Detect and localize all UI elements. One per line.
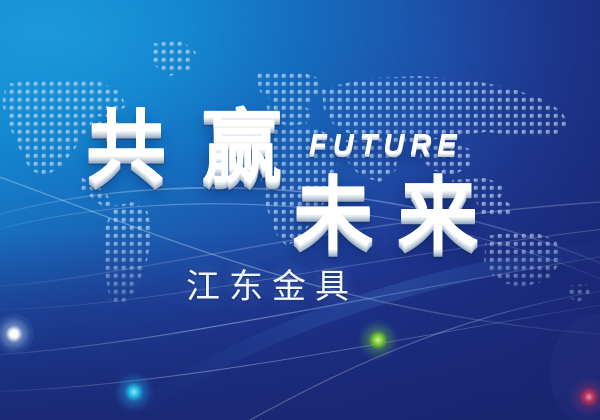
headline-char-ying: 赢 bbox=[202, 108, 282, 188]
wordmark: 共 赢 FUTURE 未 来 江东金具 bbox=[0, 0, 600, 420]
promo-banner: 共 赢 FUTURE 未 来 江东金具 bbox=[0, 0, 600, 420]
headline-char-wei: 未 bbox=[293, 175, 373, 255]
headline-char-lai: 来 bbox=[398, 175, 478, 255]
brand-name: 江东金具 bbox=[186, 270, 358, 304]
headline-char-gong: 共 bbox=[86, 108, 166, 188]
headline-latin-future: FUTURE bbox=[309, 131, 463, 160]
